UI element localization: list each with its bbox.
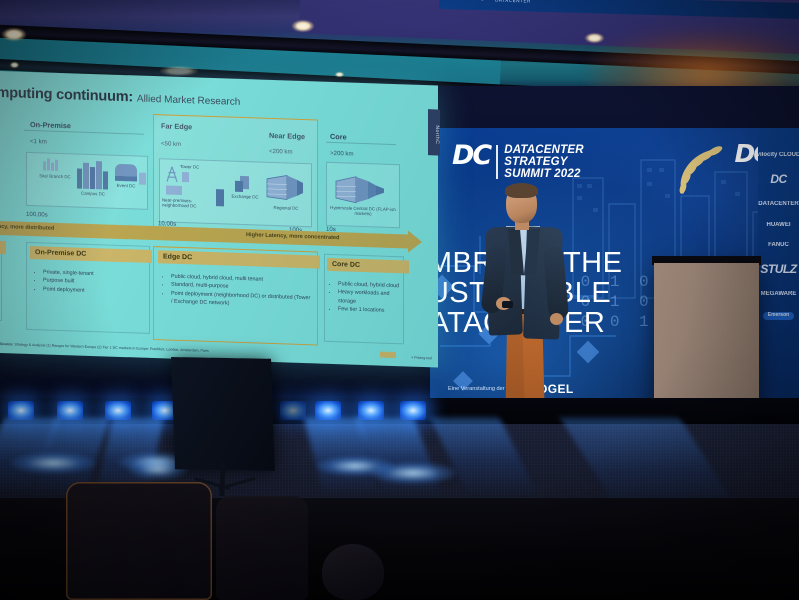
logo-divider (496, 145, 498, 179)
slide-side-tab: NorthC (428, 109, 440, 155)
legend-swatch (380, 352, 396, 359)
summit-logo-line3: SUMMIT 2022 (504, 168, 584, 180)
laurel-wreath-icon (671, 142, 729, 198)
dc-logo-mark: DC (452, 144, 490, 169)
presentation-slide: computing continuum: Allied Market Resea… (0, 71, 438, 368)
audience-chair-rim (66, 482, 212, 600)
downlight-icon (2, 28, 26, 41)
summit-logo: DC DATACENTER STRATEGY SUMMIT 2022 (452, 144, 584, 181)
speaker-hair (505, 183, 538, 198)
confidence-monitor (171, 357, 275, 471)
legend-label: = Pricing tool (411, 356, 432, 361)
icon-label-near-premises: Near-premises- neighborhood DC (162, 197, 214, 209)
ceiling-warm-glow (589, 28, 799, 92)
sponsor-logo: Emerson (763, 312, 794, 320)
summit-logo-line2: STRATEGY (504, 156, 584, 168)
tower-icon (165, 164, 179, 182)
sponsor-logo: DATACENTER (758, 201, 798, 208)
icon-panel-on-premise: Site/ Branch DC Campus DC Event DC (26, 152, 148, 210)
slide-title-source: Allied Market Research (137, 94, 240, 108)
column-head-on-premise: On-Premise (30, 120, 71, 130)
presentation-clicker (502, 301, 513, 308)
column-head-core: Core (330, 132, 347, 142)
sponsor-logo: STULZ (760, 263, 796, 277)
card-head-truncated (0, 240, 6, 254)
led-floor-pool (370, 462, 456, 484)
audience-foreground (0, 498, 799, 600)
icon-label-regional: Regional DC (264, 205, 308, 212)
icon-label-hyperscale: Hyperscale Central DC (FLAP-ish markets) (329, 205, 397, 217)
latency-arrow-right-label: Higher Latency, more concentrated (246, 232, 339, 241)
source-note-label: Source: (0, 342, 13, 346)
audience-chair (216, 496, 308, 600)
sponsor-logo: DC (770, 173, 786, 187)
bullet-item: Heavy workloads and storage (338, 289, 403, 308)
summit-logo-line1: DATACENTER (504, 144, 584, 156)
regional-dc-icon (265, 173, 309, 204)
icon-label-exchange: Exchange DC (228, 194, 262, 200)
source-note-text: Strategy & Analysis (1) Ranges for Weste… (14, 342, 208, 352)
sponsor-logo: vilocity CLOUD (758, 152, 799, 159)
summit-logo-words: DATACENTER STRATEGY SUMMIT 2022 (504, 144, 584, 181)
count-on-premise: 100,00s (26, 211, 48, 219)
sponsor-logo: HUAWEI (767, 222, 791, 229)
head-rule (24, 130, 144, 135)
sponsor-logo: FANUC (768, 242, 789, 249)
hyperscale-dc-icon (334, 173, 390, 207)
sponsor-logo: MEGAWARE (761, 291, 797, 298)
card-bullets-on-premise-dc: Private, single-tenant Purpose built Poi… (36, 268, 146, 297)
distance-on-premise: <1 km (30, 138, 47, 146)
head-rule (326, 142, 396, 145)
slide-title: computing continuum: Allied Market Resea… (0, 84, 240, 109)
downlight-icon (160, 66, 198, 76)
led-floor-pool (10, 452, 96, 474)
audience-head (322, 544, 384, 600)
downlight-icon (292, 20, 314, 32)
icon-label-site-branch: Site/ Branch DC (33, 173, 77, 180)
icon-label-campus: Campus DC (75, 190, 111, 196)
led-fixture (280, 401, 306, 420)
card-head-core-dc: Core DC (327, 258, 409, 274)
icon-label-tower: Tower DC (180, 164, 212, 170)
card-bullets-core-dc: Public cloud, hybrid cloud Heavy workloa… (331, 280, 403, 316)
latency-arrow-left-label: ...ency, more distributed (0, 224, 54, 232)
conference-stage-scene: DC DATACENTER (0, 0, 799, 600)
icon-label-event: Event DC (113, 183, 139, 189)
slide-source-note: Source: Strategy & Analysis (1) Ranges f… (0, 342, 209, 353)
card-bullets-edge-dc: Public cloud, hybrid cloud, multi tenant… (164, 272, 312, 310)
icon-panel-core: Hyperscale Central DC (FLAP-ish markets) (326, 162, 400, 228)
downlight-icon (335, 72, 344, 77)
slide-title-main: computing continuum: (0, 84, 133, 105)
speaker-hand-right (550, 313, 563, 325)
icon-panel-edge: Tower DC Near-premises- neighborhood DC … (159, 158, 312, 227)
projection-screen: computing continuum: Allied Market Resea… (0, 71, 438, 368)
ceiling-banner-text: DATACENTER (495, 0, 531, 4)
distance-core: >200 km (330, 150, 354, 158)
downlight-icon (10, 62, 19, 68)
ceiling-banner-logo: DC (475, 0, 485, 2)
sponsor-logo-rail: vilocity CLOUD DC DATACENTER HUAWEI FANU… (758, 128, 799, 440)
